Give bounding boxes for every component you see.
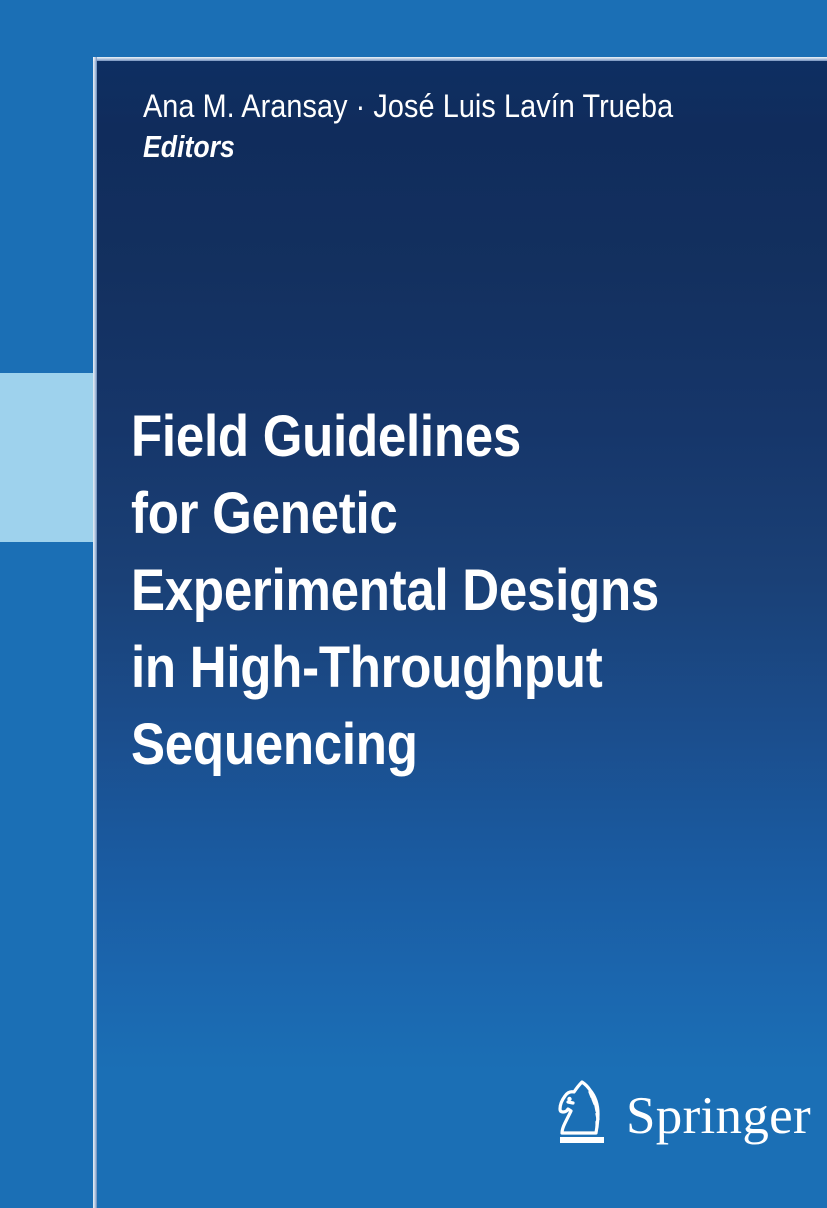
title-line-2: for Genetic	[131, 475, 712, 552]
book-title: Field Guidelines for Genetic Experimenta…	[131, 398, 791, 783]
knight-eye	[567, 1097, 571, 1101]
springer-wordmark: Springer	[626, 1089, 811, 1143]
editors-block: Ana M. Aransay · José Luis Lavín Trueba …	[143, 86, 763, 167]
title-line-5: Sequencing	[131, 706, 712, 783]
editors-role-label: Editors	[143, 127, 676, 167]
title-line-4: in High-Throughput	[131, 629, 712, 706]
title-line-1: Field Guidelines	[131, 398, 712, 475]
editor-names: Ana M. Aransay · José Luis Lavín Trueba	[143, 86, 701, 127]
book-cover: Ana M. Aransay · José Luis Lavín Trueba …	[0, 0, 827, 1208]
panel-top-edge-highlight	[93, 57, 827, 61]
title-line-3: Experimental Designs	[131, 552, 712, 629]
knight-base-bar	[560, 1137, 604, 1143]
panel-left-edge-highlight	[93, 57, 97, 1208]
publisher-logo: Springer	[556, 1076, 766, 1152]
springer-knight-icon	[556, 1078, 614, 1152]
accent-block-light-blue	[0, 373, 93, 542]
